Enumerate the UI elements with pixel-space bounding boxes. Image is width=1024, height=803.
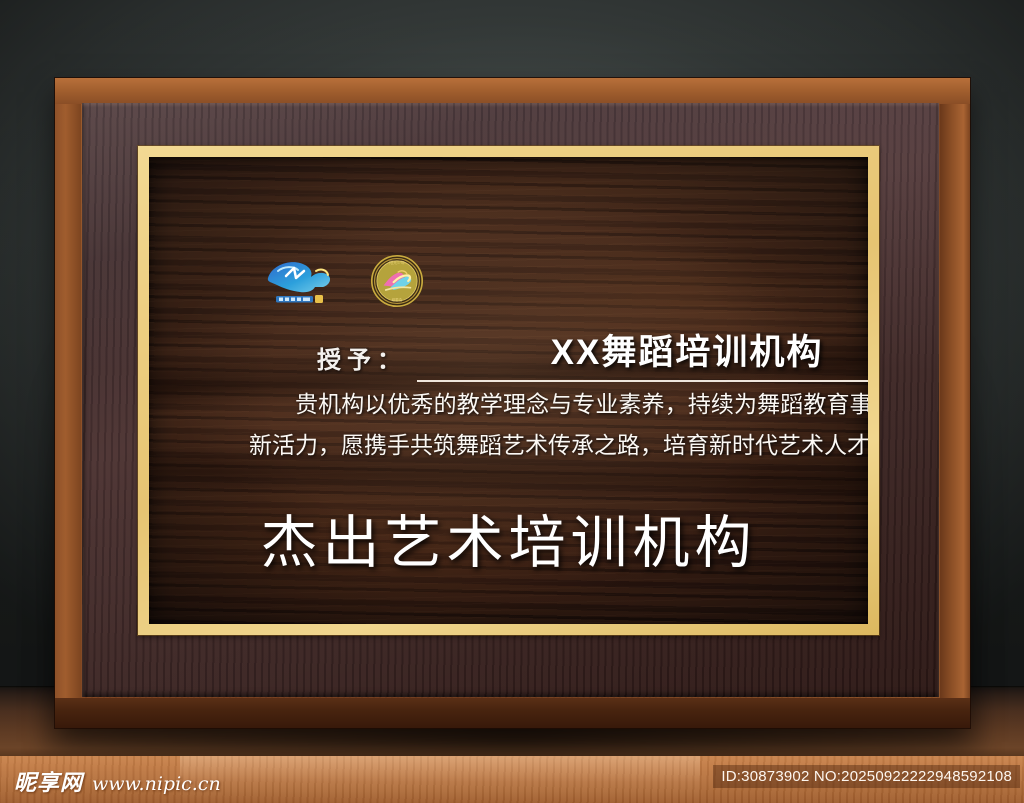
nipic-logo-text: 昵享网: [14, 765, 83, 797]
watermark-branding: 昵享网 www.nipic.cn: [14, 765, 221, 797]
award-recipient-name: XX舞蹈培训机构: [551, 333, 824, 372]
plaque-inner-mat: 阳光少年 组委会 授予： XX舞蹈培训机构 贵机构以优秀的教学理念与专业: [82, 103, 939, 697]
plaque-outer-wood-frame: 阳光少年 组委会 授予： XX舞蹈培训机构 贵机构以优秀的教学理念与专业: [55, 78, 970, 728]
svg-text:阳光少年: 阳光少年: [389, 260, 405, 265]
plaque-content: 阳光少年 组委会 授予： XX舞蹈培训机构 贵机构以优秀的教学理念与专业: [149, 157, 868, 624]
award-name-underline: XX舞蹈培训机构: [417, 324, 868, 382]
dance-emblem-logo: 阳光少年 组委会: [369, 253, 425, 309]
watermark-bar: 昵享网 www.nipic.cn ID:30873902 NO:20250922…: [0, 756, 1024, 803]
watermark-sheen: [180, 756, 700, 803]
award-title-headline: 杰出艺术培训机构: [149, 497, 868, 579]
svg-text:组委会: 组委会: [392, 297, 403, 302]
award-recipient-line: 授予： XX舞蹈培训机构: [317, 324, 868, 382]
award-prefix-label: 授予：: [317, 340, 407, 382]
award-plaque: 阳光少年 组委会 授予： XX舞蹈培训机构 贵机构以优秀的教学理念与专业: [55, 78, 970, 728]
certificate-plaque-image: 阳光少年 组委会 授予： XX舞蹈培训机构 贵机构以优秀的教学理念与专业: [0, 0, 1024, 803]
engraved-wood-field: 阳光少年 组委会 授予： XX舞蹈培训机构 贵机构以优秀的教学理念与专业: [149, 157, 868, 624]
frame-bevel-bottom: [55, 698, 970, 728]
frame-bevel-left: [55, 78, 81, 728]
sunshine-youth-logo: [263, 256, 335, 306]
watermark-id-text: ID:30873902 NO:20250922222948592108: [713, 765, 1020, 788]
citation-body-text: 贵机构以优秀的教学理念与专业素养，持续为舞蹈教育事业注入创新活力，愿携手共筑舞蹈…: [249, 385, 868, 467]
frame-bevel-right: [940, 78, 970, 728]
nipic-url-text: www.nipic.cn: [92, 773, 221, 795]
frame-bevel-top: [55, 78, 970, 104]
gold-border-band: 阳光少年 组委会 授予： XX舞蹈培训机构 贵机构以优秀的教学理念与专业: [138, 146, 879, 635]
logo-row: 阳光少年 组委会: [263, 253, 425, 309]
